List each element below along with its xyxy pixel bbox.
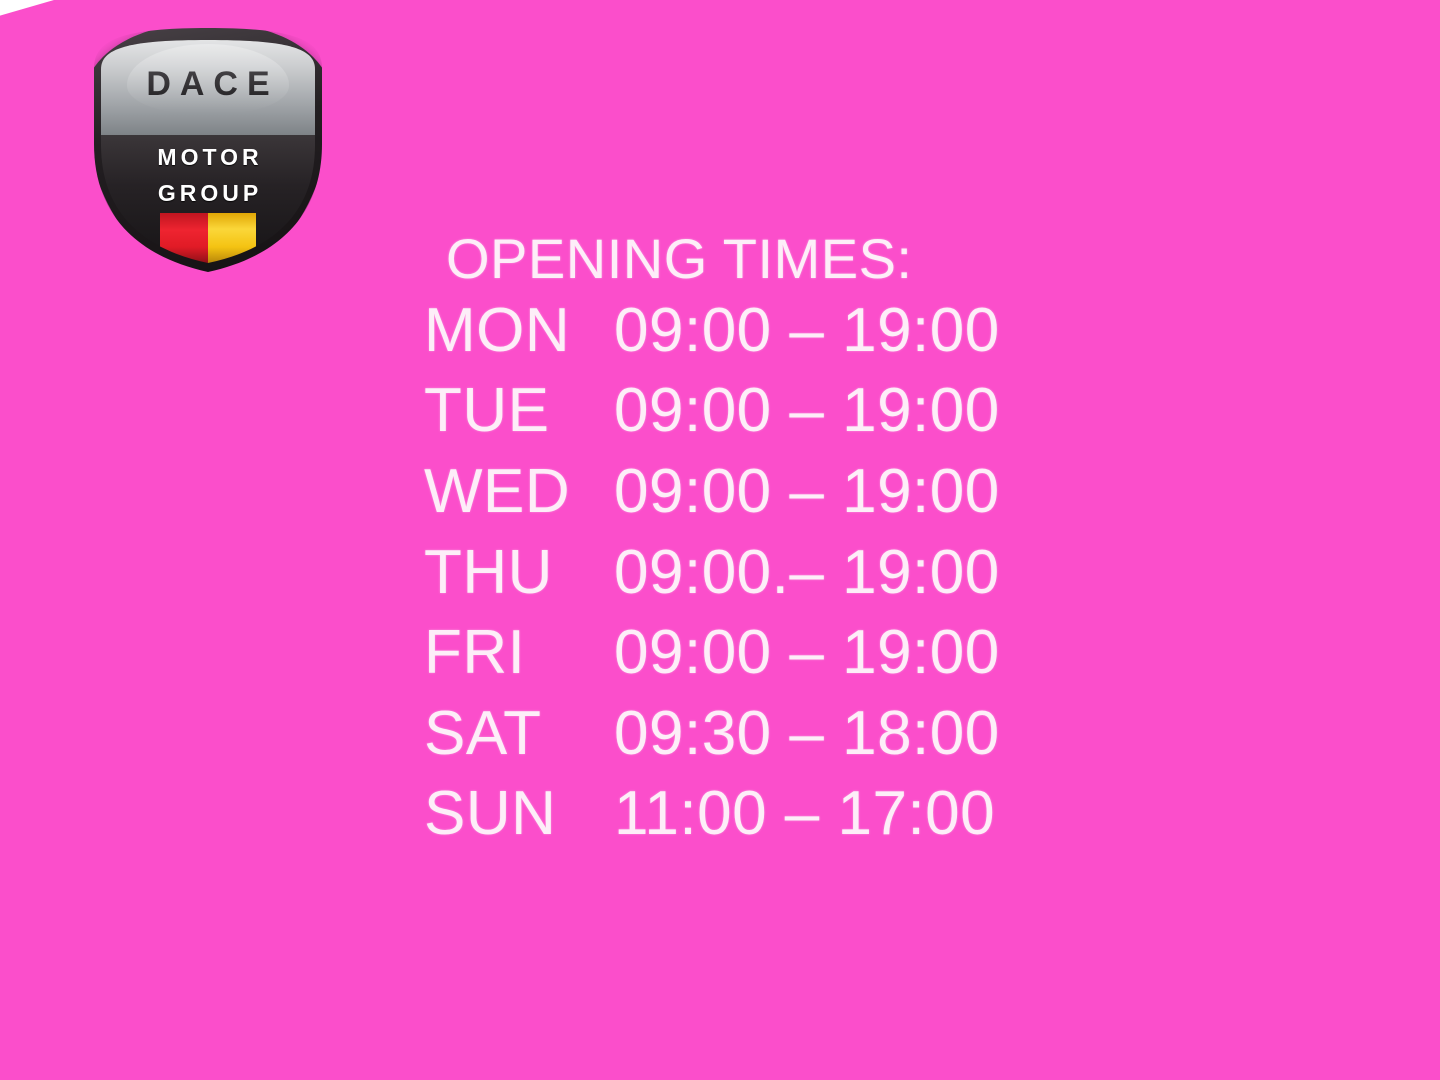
- opening-times-day: FRI: [424, 613, 614, 694]
- opening-times-row: FRI09:00 – 19:00: [424, 613, 1044, 694]
- opening-times-rows: MON09:00 – 19:00TUE09:00 – 19:00WED09:00…: [424, 291, 1044, 855]
- logo-brand-group: GROUP: [95, 180, 321, 207]
- opening-times-hours: 09:00 – 19:00: [614, 371, 1000, 452]
- opening-times-day: THU: [424, 533, 614, 614]
- opening-times-row: TUE09:00 – 19:00: [424, 371, 1044, 452]
- dace-motor-group-logo: DACE MOTOR GROUP: [84, 24, 332, 276]
- logo-brand-dace: DACE: [95, 65, 321, 104]
- opening-times-block: OPENING TIMES: MON09:00 – 19:00TUE09:00 …: [424, 228, 1044, 855]
- opening-times-day: SUN: [424, 774, 614, 855]
- opening-times-hours: 09:00 – 19:00: [614, 613, 1000, 694]
- opening-times-hours: 09:30 – 18:00: [614, 694, 1000, 775]
- opening-times-row: SAT09:30 – 18:00: [424, 694, 1044, 775]
- opening-times-day: WED: [424, 452, 614, 533]
- opening-times-day: MON: [424, 291, 614, 372]
- opening-times-heading: OPENING TIMES:: [424, 228, 1044, 291]
- opening-times-row: THU09:00.– 19:00: [424, 533, 1044, 614]
- opening-times-day: TUE: [424, 371, 614, 452]
- opening-times-poster: DACE MOTOR GROUP OPENING TIMES: MON09:00…: [0, 0, 1440, 1080]
- opening-times-hours: 09:00 – 19:00: [614, 452, 1000, 533]
- opening-times-row: WED09:00 – 19:00: [424, 452, 1044, 533]
- opening-times-day: SAT: [424, 694, 614, 775]
- logo-brand-motor: MOTOR: [95, 144, 321, 171]
- opening-times-row: MON09:00 – 19:00: [424, 291, 1044, 372]
- opening-times-hours: 11:00 – 17:00: [614, 774, 995, 855]
- opening-times-hours: 09:00 – 19:00: [614, 291, 1000, 372]
- opening-times-hours: 09:00.– 19:00: [614, 533, 1000, 614]
- opening-times-row: SUN11:00 – 17:00: [424, 774, 1044, 855]
